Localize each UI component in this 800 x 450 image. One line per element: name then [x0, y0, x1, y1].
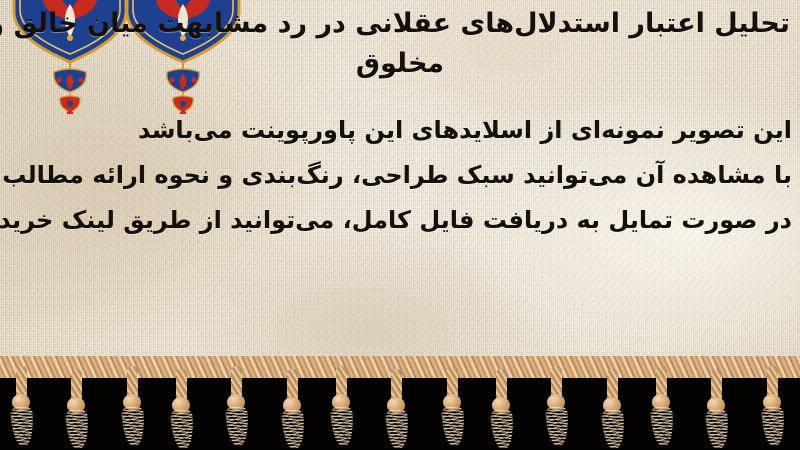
body-line-3: در صورت تمایل به دریافت فایل کامل، می‌تو… [4, 198, 796, 243]
fringe-tassel [279, 369, 305, 449]
tassel-skirt [330, 405, 355, 446]
slide-body-text: این تصویر نمونه‌ای از اسلایدهای این پاور… [4, 108, 796, 243]
tassel-skirt [281, 408, 306, 449]
slide-title-line-1: تحلیل اعتبار استدلال‌های عقلانی در رد مش… [6, 4, 794, 44]
tassel-skirt [705, 408, 730, 449]
fringe-tassel [648, 366, 674, 446]
slide-title: تحلیل اعتبار استدلال‌های عقلانی در رد مش… [6, 4, 794, 84]
fringe-tassel [759, 366, 785, 446]
fringe-tassel [63, 369, 89, 449]
fringe-tassel [383, 369, 409, 449]
tassel-skirt [650, 405, 675, 446]
tassel-skirt [170, 408, 195, 449]
carpet-fringe-band [0, 356, 800, 450]
tassel-skirt [545, 405, 570, 446]
fringe-tassel [488, 369, 514, 449]
tassel-skirt [10, 405, 35, 446]
body-line-2: با مشاهده آن می‌توانید سبک طراحی، رنگ‌بن… [4, 153, 796, 198]
fringe-tassel [119, 366, 145, 446]
fringe-tassel [168, 369, 194, 449]
slide-title-line-2: مخلوق [6, 44, 794, 84]
tassel-skirt [490, 408, 515, 449]
tassel-skirt [121, 405, 146, 446]
fringe-tassel [439, 366, 465, 446]
tassel-skirt [761, 405, 786, 446]
tassel-skirt [441, 405, 466, 446]
fringe-tassel [543, 366, 569, 446]
fringe-tassel [599, 369, 625, 449]
presentation-slide: تحلیل اعتبار استدلال‌های عقلانی در رد مش… [0, 0, 800, 450]
tassel-skirt [225, 405, 250, 446]
tassel-skirt [65, 408, 90, 449]
fringe-tassel [703, 369, 729, 449]
fringe-tassel [328, 366, 354, 446]
body-line-1: این تصویر نمونه‌ای از اسلایدهای این پاور… [4, 108, 796, 153]
fringe-tassel [8, 366, 34, 446]
tassel-skirt [385, 408, 410, 449]
fringe-tassel [223, 366, 249, 446]
tassel-skirt [601, 408, 626, 449]
